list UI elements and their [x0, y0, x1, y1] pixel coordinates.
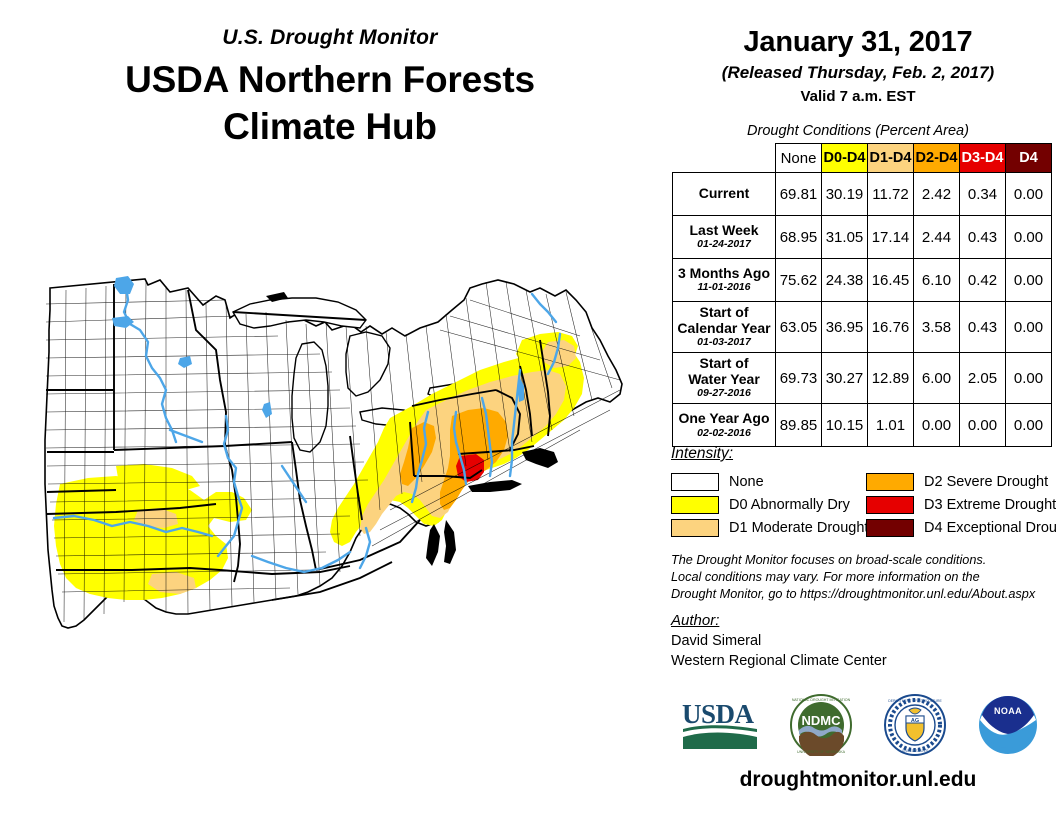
cell-d0-d4: 30.19 — [822, 173, 868, 216]
title-block: U.S. Drought Monitor USDA Northern Fores… — [0, 26, 660, 151]
col-header-d1-d4: D1-D4 — [868, 144, 914, 173]
cell-none: 63.05 — [776, 302, 822, 353]
author-heading: Author: — [671, 612, 1056, 629]
noaa-logo: NOAA — [977, 694, 1039, 761]
col-header-d0-d4: D0-D4 — [822, 144, 868, 173]
cell-d1-d4: 17.14 — [868, 216, 914, 259]
row-label-date: 09-27-2016 — [677, 388, 771, 400]
table-row: Last Week 01-24-2017 68.95 31.05 17.14 2… — [673, 216, 1052, 259]
main-title: USDA Northern Forests Climate Hub — [0, 56, 660, 151]
svg-text:UNITED STATES: UNITED STATES — [902, 749, 929, 753]
table-row: Current 69.81 30.19 11.72 2.42 0.34 0.00 — [673, 173, 1052, 216]
intensity-legend-grid: None D2 Severe Drought D0 Abnormally Dry… — [671, 470, 1056, 539]
cell-d0-d4: 10.15 — [822, 404, 868, 447]
cell-d1-d4: 16.76 — [868, 302, 914, 353]
svg-text:DEPARTMENT OF AGRICULTURE: DEPARTMENT OF AGRICULTURE — [888, 699, 942, 703]
cell-d1-d4: 11.72 — [868, 173, 914, 216]
cell-d0-d4: 36.95 — [822, 302, 868, 353]
cell-d2-d4: 6.00 — [914, 353, 960, 404]
chesapeake-bay — [426, 524, 440, 566]
cell-d4: 0.00 — [1006, 216, 1052, 259]
svg-text:NDMC: NDMC — [802, 713, 842, 728]
cell-d3-d4: 0.34 — [960, 173, 1006, 216]
legend-label: None — [729, 474, 764, 490]
row-label-start-of-water-year: Start ofWater Year 09-27-2016 — [673, 353, 776, 404]
site-url[interactable]: droughtmonitor.unl.edu — [660, 768, 1056, 792]
right-header: January 31, 2017 (Released Thursday, Feb… — [660, 26, 1056, 105]
table-corner-cell — [673, 144, 776, 173]
river-kanawha — [360, 528, 370, 568]
drought-map[interactable] — [20, 270, 650, 670]
cape-cod — [522, 448, 558, 468]
cell-d4: 0.00 — [1006, 302, 1052, 353]
legend-item-d3: D3 Extreme Drought — [866, 496, 1056, 514]
cell-d0-d4: 30.27 — [822, 353, 868, 404]
cell-d4: 0.00 — [1006, 353, 1052, 404]
disclaimer-line-3[interactable]: Drought Monitor, go to https://droughtmo… — [671, 586, 1056, 603]
swatch-d2 — [866, 473, 914, 491]
cell-none: 69.81 — [776, 173, 822, 216]
legend-item-d1: D1 Moderate Drought — [671, 519, 866, 537]
table-row: 3 Months Ago 11-01-2016 75.62 24.38 16.4… — [673, 259, 1052, 302]
legend-item-d2: D2 Severe Drought — [866, 473, 1056, 491]
usda-seal-logo: AG DEPARTMENT OF AGRICULTURE UNITED STAT… — [884, 694, 946, 761]
disclaimer-line-1: The Drought Monitor focuses on broad-sca… — [671, 552, 1056, 569]
cell-d2-d4: 6.10 — [914, 259, 960, 302]
row-label-current: Current — [673, 173, 776, 216]
author-affiliation: Western Regional Climate Center — [671, 652, 1056, 672]
svg-text:NOAA: NOAA — [994, 706, 1022, 716]
legend-label: D4 Exceptional Drought — [924, 520, 1056, 536]
cell-d4: 0.00 — [1006, 404, 1052, 447]
cell-none: 69.73 — [776, 353, 822, 404]
row-label-date: 02-02-2016 — [677, 428, 771, 440]
swatch-d3 — [866, 496, 914, 514]
row-label-date: 11-01-2016 — [677, 282, 771, 294]
table-caption: Drought Conditions (Percent Area) — [660, 123, 1056, 139]
main-title-line2: Climate Hub — [0, 103, 660, 150]
row-label-text: Current — [699, 185, 750, 201]
row-label-date: 01-24-2017 — [677, 239, 771, 251]
row-label-one-year-ago: One Year Ago 02-02-2016 — [673, 404, 776, 447]
cell-d3-d4: 0.00 — [960, 404, 1006, 447]
long-island — [468, 480, 522, 492]
swatch-d1 — [671, 519, 719, 537]
legend-label: D1 Moderate Drought — [729, 520, 868, 536]
intensity-legend: Intensity: None D2 Severe Drought D0 Abn… — [671, 445, 1056, 539]
cell-d4: 0.00 — [1006, 173, 1052, 216]
cell-d3-d4: 2.05 — [960, 353, 1006, 404]
cell-d4: 0.00 — [1006, 259, 1052, 302]
table-header-row: None D0-D4 D1-D4 D2-D4 D3-D4 D4 — [673, 144, 1052, 173]
row-label-last-week: Last Week 01-24-2017 — [673, 216, 776, 259]
swatch-d4 — [866, 519, 914, 537]
col-header-d4: D4 — [1006, 144, 1052, 173]
row-label-text: Start ofWater Year — [688, 355, 760, 387]
svg-text:UNIVERSITY OF NEBRASKA: UNIVERSITY OF NEBRASKA — [797, 750, 846, 754]
row-label-text: One Year Ago — [678, 410, 769, 426]
delmarva-coast — [444, 520, 456, 564]
legend-label: D0 Abnormally Dry — [729, 497, 850, 513]
legend-label: D3 Extreme Drought — [924, 497, 1056, 513]
cell-d2-d4: 3.58 — [914, 302, 960, 353]
valid-time: Valid 7 a.m. EST — [660, 88, 1056, 105]
svg-text:AG: AG — [911, 718, 919, 724]
cell-d1-d4: 1.01 — [868, 404, 914, 447]
ndmc-logo: NDMC NATIONAL DROUGHT MITIGATION UNIVERS… — [790, 694, 852, 761]
supertitle: U.S. Drought Monitor — [0, 26, 660, 50]
col-header-d3-d4: D3-D4 — [960, 144, 1006, 173]
cell-none: 75.62 — [776, 259, 822, 302]
swatch-d0 — [671, 496, 719, 514]
usda-logo: USDA — [681, 699, 759, 756]
author-name: David Simeral — [671, 632, 1056, 652]
logo-row: USDA NDMC NATIONAL DROUGHT MITIGATION UN… — [665, 692, 1055, 762]
cell-d2-d4: 2.42 — [914, 173, 960, 216]
col-header-none: None — [776, 144, 822, 173]
table-row: One Year Ago 02-02-2016 89.85 10.15 1.01… — [673, 404, 1052, 447]
disclaimer-line-2: Local conditions may vary. For more info… — [671, 569, 1056, 586]
cell-d0-d4: 24.38 — [822, 259, 868, 302]
row-label-text: Last Week — [690, 222, 759, 238]
table-row: Start ofWater Year 09-27-2016 69.73 30.2… — [673, 353, 1052, 404]
cell-d3-d4: 0.43 — [960, 302, 1006, 353]
cell-d0-d4: 31.05 — [822, 216, 868, 259]
legend-item-d0: D0 Abnormally Dry — [671, 496, 866, 514]
row-label-text: Start ofCalendar Year — [677, 304, 770, 336]
cell-d3-d4: 0.42 — [960, 259, 1006, 302]
map-svg[interactable] — [20, 270, 650, 670]
swatch-none — [671, 473, 719, 491]
intensity-heading: Intensity: — [671, 445, 1056, 463]
cell-none: 89.85 — [776, 404, 822, 447]
row-label-text: 3 Months Ago — [678, 265, 770, 281]
table-row: Start ofCalendar Year 01-03-2017 63.05 3… — [673, 302, 1052, 353]
cell-d2-d4: 0.00 — [914, 404, 960, 447]
row-label-3-months-ago: 3 Months Ago 11-01-2016 — [673, 259, 776, 302]
svg-text:USDA: USDA — [682, 699, 755, 729]
cell-d1-d4: 16.45 — [868, 259, 914, 302]
cell-none: 68.95 — [776, 216, 822, 259]
row-label-date: 01-03-2017 — [677, 337, 771, 349]
svg-text:NATIONAL DROUGHT MITIGATION: NATIONAL DROUGHT MITIGATION — [792, 698, 851, 702]
release-date: (Released Thursday, Feb. 2, 2017) — [660, 63, 1056, 83]
legend-item-d4: D4 Exceptional Drought — [866, 519, 1056, 537]
drought-conditions-table: None D0-D4 D1-D4 D2-D4 D3-D4 D4 Current … — [672, 143, 1052, 447]
disclaimer: The Drought Monitor focuses on broad-sca… — [671, 552, 1056, 603]
legend-item-none: None — [671, 473, 866, 491]
report-date: January 31, 2017 — [660, 26, 1056, 59]
col-header-d2-d4: D2-D4 — [914, 144, 960, 173]
cell-d3-d4: 0.43 — [960, 216, 1006, 259]
author-block: Author: David Simeral Western Regional C… — [671, 612, 1056, 671]
cell-d2-d4: 2.44 — [914, 216, 960, 259]
cell-d1-d4: 12.89 — [868, 353, 914, 404]
row-label-start-of-calendar-year: Start ofCalendar Year 01-03-2017 — [673, 302, 776, 353]
legend-label: D2 Severe Drought — [924, 474, 1048, 490]
main-title-line1: USDA Northern Forests — [0, 56, 660, 103]
